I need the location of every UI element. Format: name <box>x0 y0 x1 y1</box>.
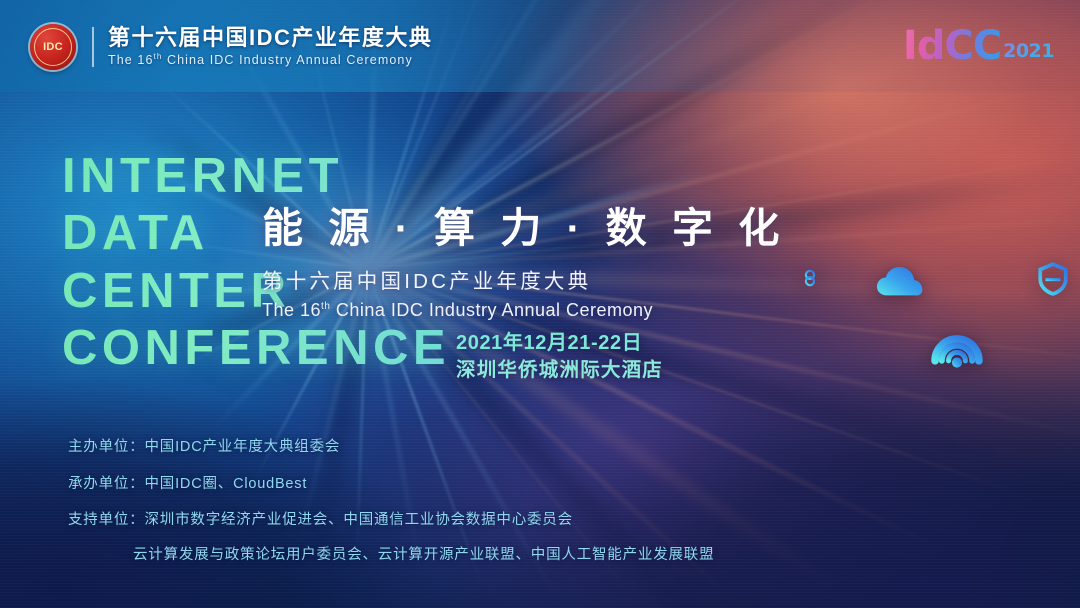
slogan-group: 能 源 · 算 力 · 数 字 化 第十六届中国IDC产业年度大典 The 16… <box>262 206 786 321</box>
slogan-main-text: 能 源 · 算 力 · 数 字 化 <box>262 206 786 251</box>
organizer-value: 深圳市数字经济产业促进会、中国通信工业协会数据中心委员会 <box>145 512 573 528</box>
headline-line-4: CONFERENCE <box>62 320 450 377</box>
slogan-en-pre: The 16 <box>262 300 321 320</box>
organizer-label: 支持单位： <box>68 512 145 528</box>
headline-line-1: INTERNET <box>62 148 450 205</box>
idcc-wordmark: IdCC <box>903 28 1001 64</box>
header-title-en-post: China IDC Industry Annual Ceremony <box>162 53 412 67</box>
header-divider <box>92 27 94 67</box>
slogan-subtitle-cn: 第十六届中国IDC产业年度大典 <box>262 264 786 294</box>
organizer-block: 主办单位：中国IDC产业年度大典组委会承办单位：中国IDC圈、CloudBest… <box>68 440 714 562</box>
header-title-en-pre: The 16 <box>108 53 154 67</box>
organizer-row: 主办单位：中国IDC产业年度大典组委会 <box>68 440 714 455</box>
header-title-group: 第十六届中国IDC产业年度大典 The 16th China IDC Indus… <box>108 26 432 68</box>
event-venue: 深圳华侨城洲际大酒店 <box>456 357 663 383</box>
slogan-en-sup: th <box>321 301 330 312</box>
organizer-value: 中国IDC产业年度大典组委会 <box>145 439 341 455</box>
event-details: 2021年12月21-22日 深圳华侨城洲际大酒店 <box>456 330 663 383</box>
idc-logo-label: IDC <box>43 42 63 53</box>
slogan-en-post: China IDC Industry Annual Ceremony <box>330 300 653 320</box>
organizer-value: 中国IDC圈、CloudBest <box>145 476 308 492</box>
header-band: IDC 第十六届中国IDC产业年度大典 The 16th China IDC I… <box>0 0 1080 92</box>
idcc-year-label: 2021 <box>1003 42 1054 64</box>
organizer-row: 支持单位：深圳市数字经济产业促进会、中国通信工业协会数据中心委员会 <box>68 513 714 528</box>
header-title-en: The 16th China IDC Industry Annual Cerem… <box>108 53 432 68</box>
organizer-label: 主办单位： <box>68 439 145 455</box>
conference-poster: IDC 第十六届中国IDC产业年度大典 The 16th China IDC I… <box>0 0 1080 608</box>
idc-circle-logo-icon: IDC <box>30 24 76 70</box>
header-brand-group: IDC 第十六届中国IDC产业年度大典 The 16th China IDC I… <box>30 24 432 70</box>
organizer-row: 云计算发展与政策论坛用户委员会、云计算开源产业联盟、中国人工智能产业发展联盟 <box>133 548 714 563</box>
organizer-value: 云计算发展与政策论坛用户委员会、云计算开源产业联盟、中国人工智能产业发展联盟 <box>133 547 714 563</box>
slogan-subtitle-en: The 16th China IDC Industry Annual Cerem… <box>262 300 786 321</box>
organizer-label: 承办单位： <box>68 476 145 492</box>
organizer-row: 承办单位：中国IDC圈、CloudBest <box>68 477 714 492</box>
header-title-cn: 第十六届中国IDC产业年度大典 <box>108 26 432 50</box>
event-date: 2021年12月21-22日 <box>456 330 663 357</box>
idcc-brand-logo: IdCC 2021 <box>903 28 1054 64</box>
